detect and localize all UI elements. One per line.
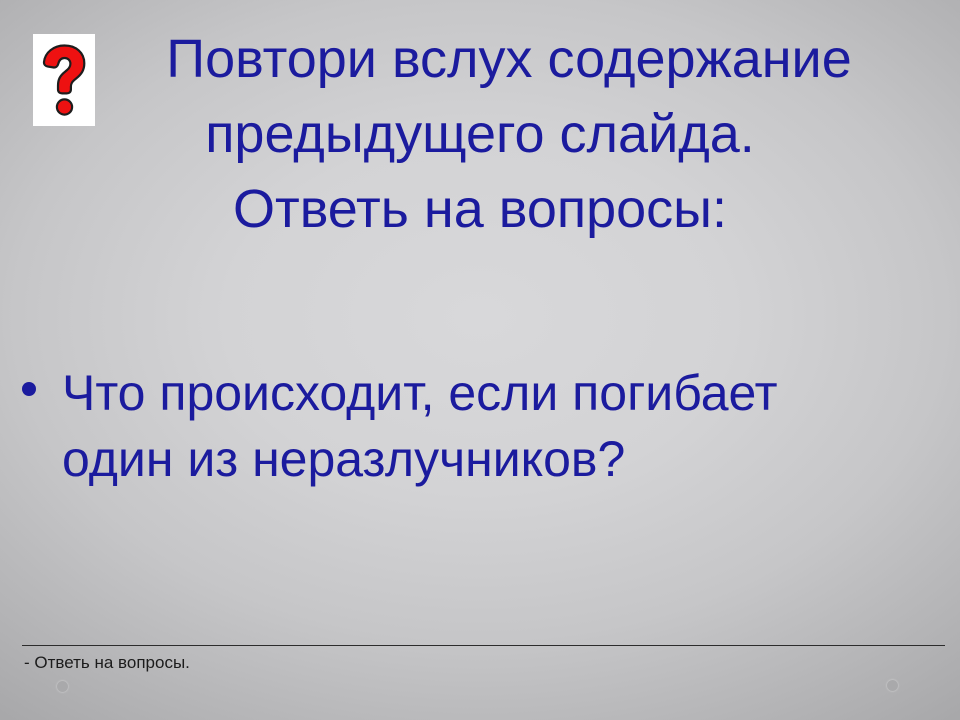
title-line-2: предыдущего слайда. [0, 97, 960, 172]
slide-body: Что происходит, если погибает один из не… [10, 360, 940, 492]
list-item: Что происходит, если погибает один из не… [10, 360, 940, 492]
footer-dot-right-icon [887, 680, 898, 691]
slide-title: Повтори вслух содержание предыдущего сла… [0, 22, 960, 247]
bullet-line-2: один из неразлучников? [62, 426, 940, 492]
bullet-point-icon [22, 382, 36, 396]
footer-divider [22, 645, 945, 646]
bullet-line-1: Что происходит, если погибает [62, 360, 940, 426]
footer-dot-left-icon [57, 681, 68, 692]
footer-note: - Ответь на вопросы. [24, 652, 190, 674]
title-line-1: Повтори вслух содержание [0, 22, 960, 97]
title-line-3: Ответь на вопросы: [0, 172, 960, 247]
slide-canvas: Повтори вслух содержание предыдущего сла… [0, 0, 960, 720]
